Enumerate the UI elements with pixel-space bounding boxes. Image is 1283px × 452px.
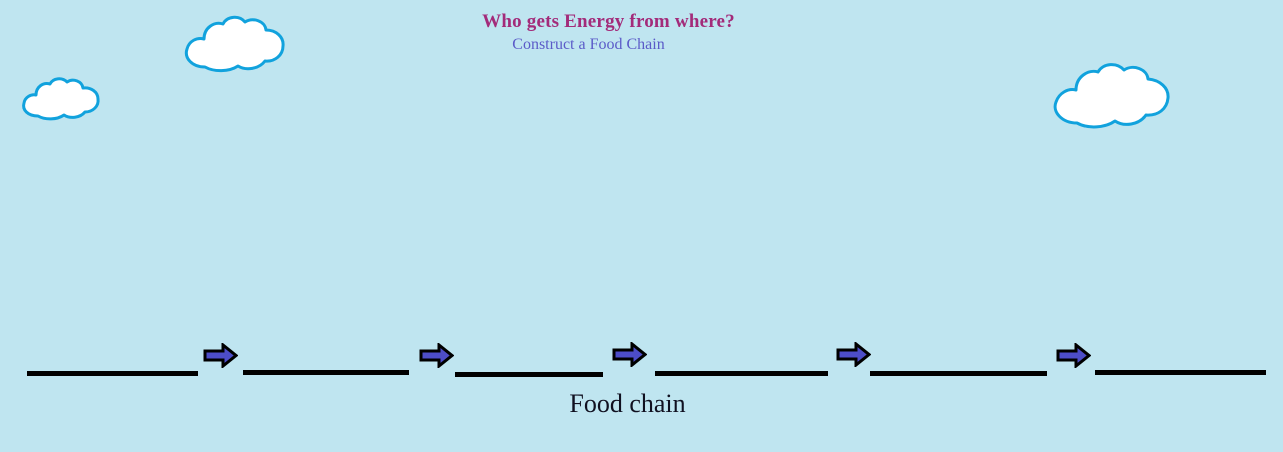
blank-line-2[interactable] bbox=[243, 370, 409, 375]
worksheet-canvas: Who gets Energy from where? Construct a … bbox=[0, 0, 1283, 452]
food-chain-caption: Food chain bbox=[0, 389, 1269, 419]
blank-line-6[interactable] bbox=[1095, 370, 1266, 375]
cloud-icon-right bbox=[1048, 60, 1176, 132]
arrow-right-icon-1 bbox=[203, 343, 238, 368]
arrow-right-icon-4 bbox=[836, 342, 871, 367]
cloud-icon-left-small bbox=[18, 74, 108, 122]
cloud-icon-top-left bbox=[180, 13, 290, 75]
blank-line-5[interactable] bbox=[870, 371, 1047, 376]
arrow-right-icon-2 bbox=[419, 343, 454, 368]
blank-line-3[interactable] bbox=[455, 372, 603, 377]
arrow-right-icon-5 bbox=[1056, 343, 1091, 368]
blank-line-1[interactable] bbox=[27, 371, 198, 376]
arrow-right-icon-3 bbox=[612, 342, 647, 367]
blank-line-4[interactable] bbox=[655, 371, 828, 376]
